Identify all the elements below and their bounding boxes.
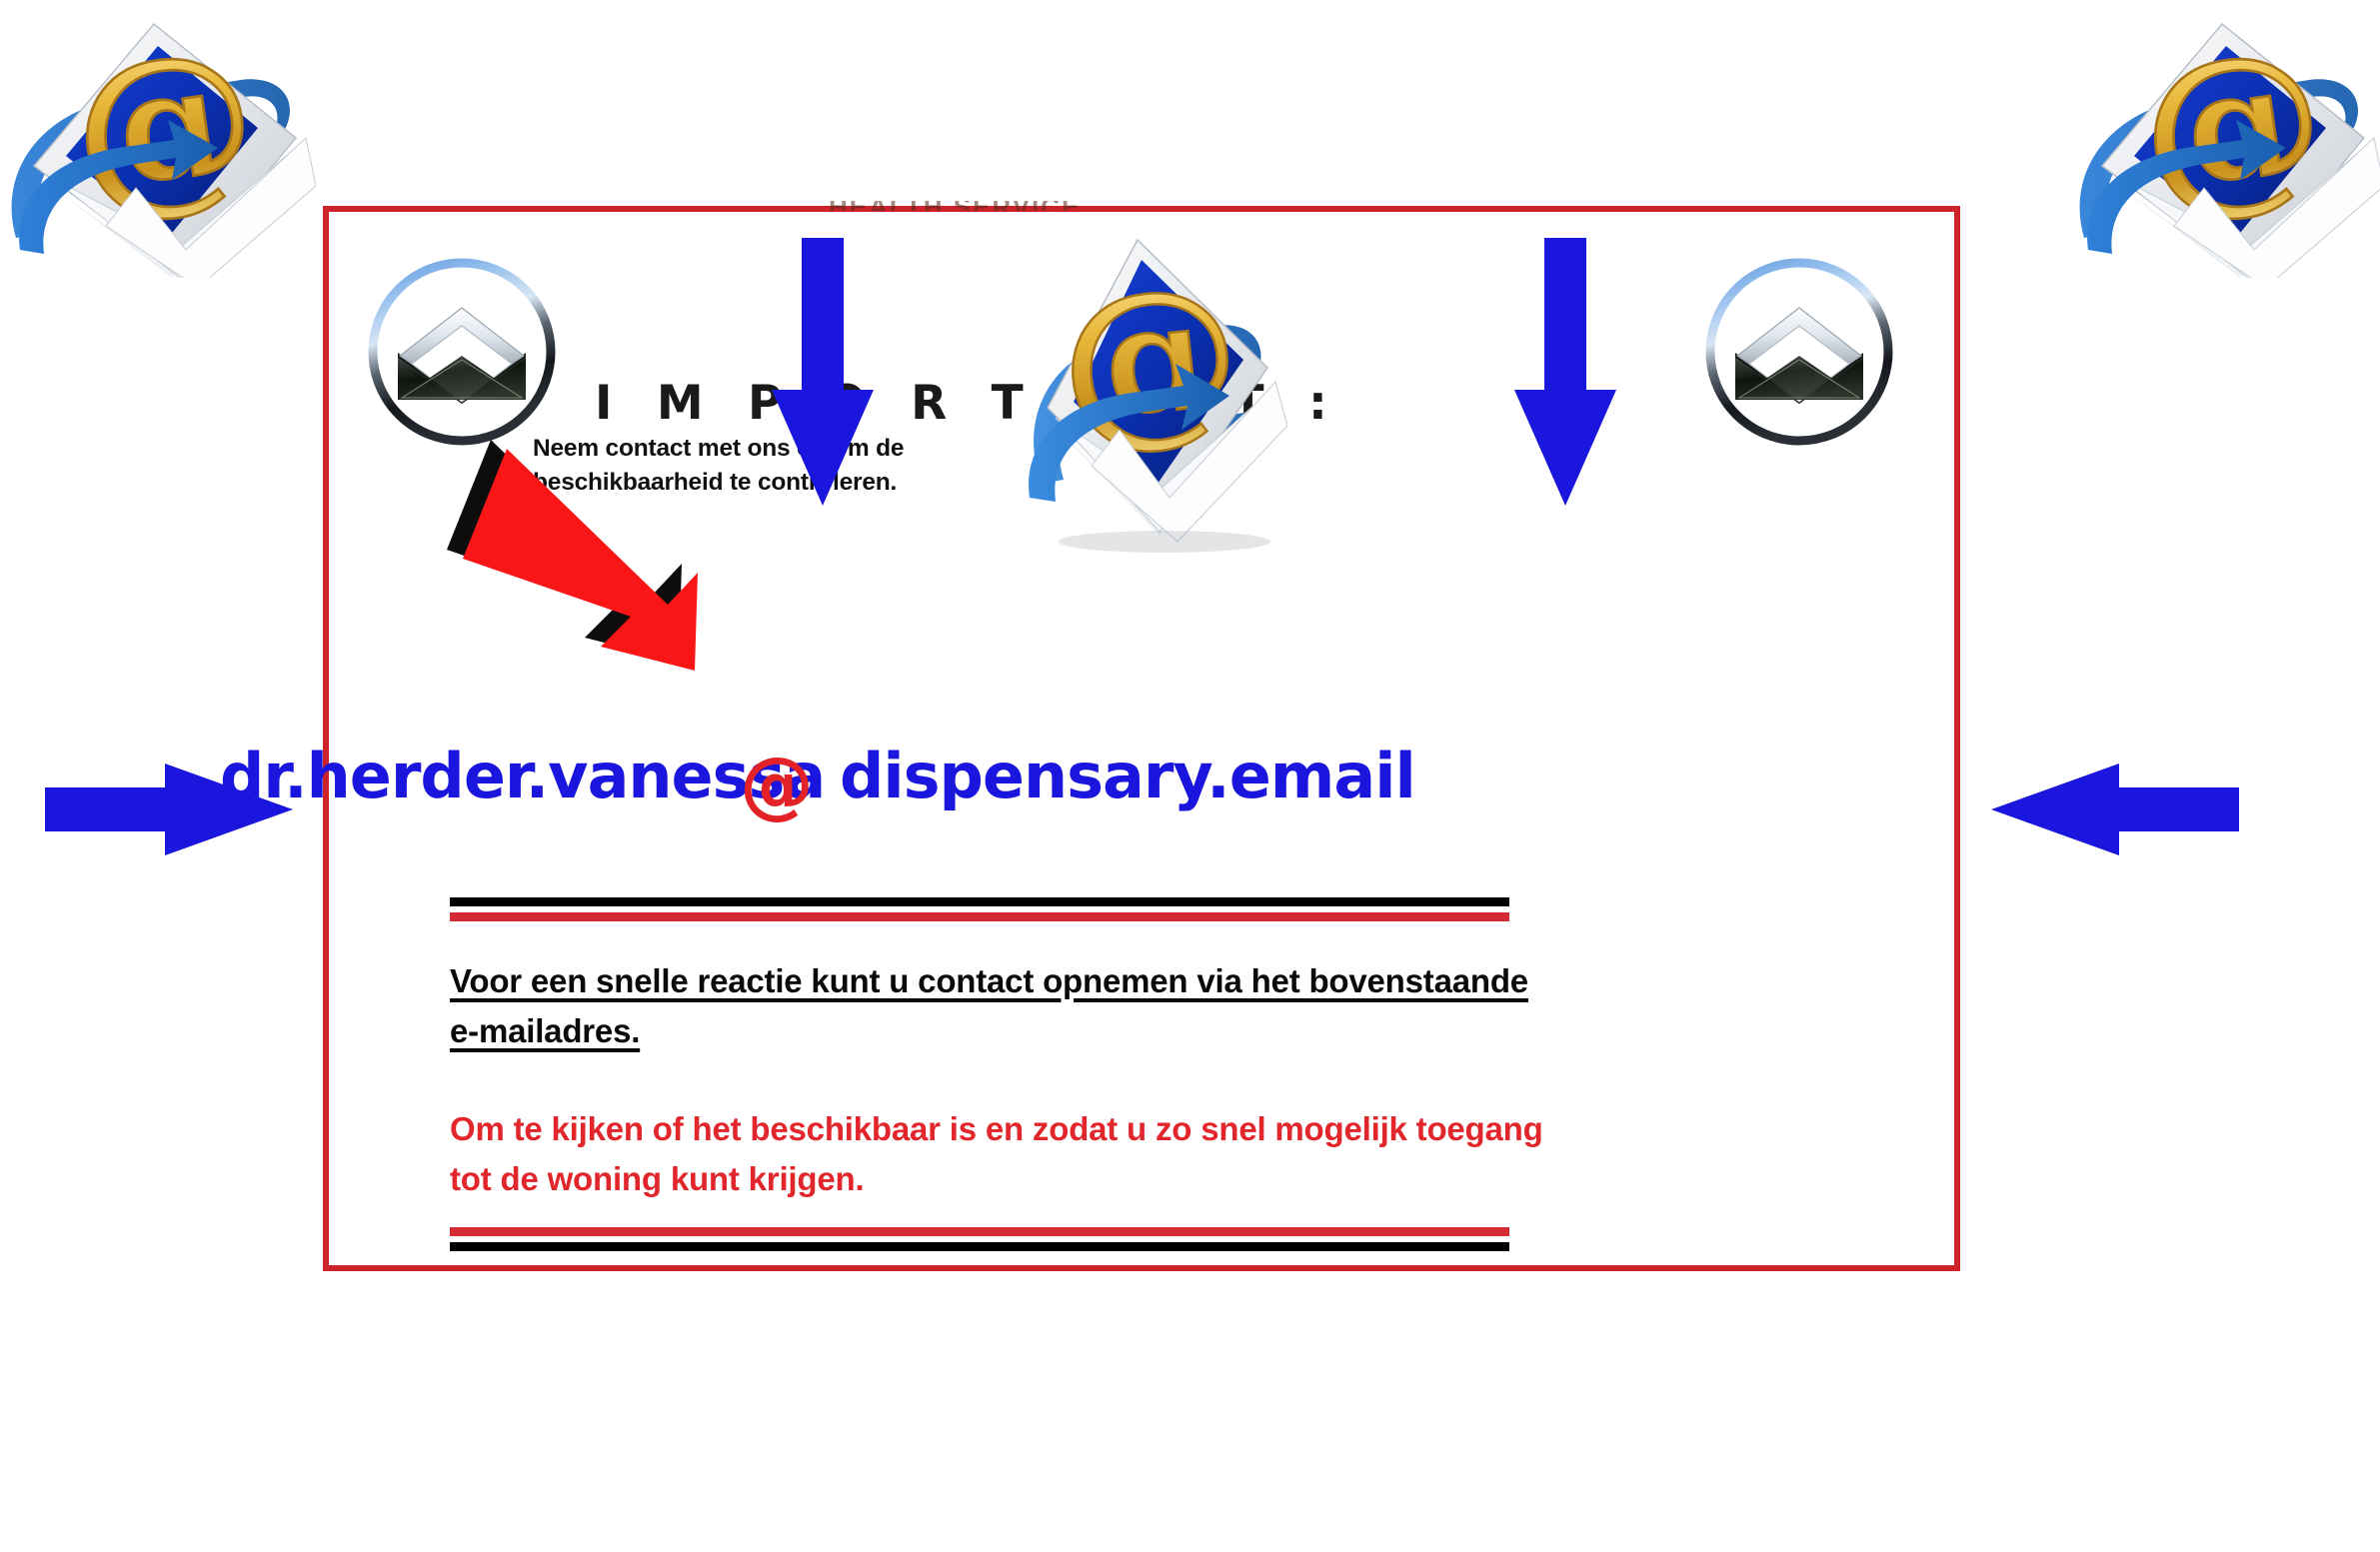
email-address-row: dr.herder.vanessa @ dispensary.email — [330, 740, 1959, 869]
envelope-at-icon: @ — [1000, 198, 1289, 558]
circle-envelope-icon — [1699, 252, 1899, 452]
divider-red-bar — [450, 1227, 1509, 1236]
poster-canvas: @ — [0, 0, 2380, 1552]
divider-bottom — [450, 1227, 1509, 1251]
response-instruction-text: Voor een snelle reactie kunt u contact o… — [450, 956, 1559, 1056]
divider-black-bar — [450, 1242, 1509, 1251]
red-diagonal-arrow-icon — [445, 435, 725, 685]
response-instruction-underlined: Voor een snelle reactie kunt u contact o… — [450, 962, 1528, 1049]
email-domain-part[interactable]: dispensary.email — [840, 740, 1415, 812]
divider-top — [450, 897, 1509, 921]
email-local-part[interactable]: dr.herder.vanessa — [220, 740, 825, 812]
envelope-at-icon: @ — [2054, 0, 2380, 278]
envelope-at-icon: @ — [0, 0, 316, 278]
blue-left-arrow-icon — [1989, 760, 2239, 859]
blue-right-arrow-icon — [45, 760, 295, 859]
email-at-symbol: @ — [740, 742, 814, 827]
divider-red-bar — [450, 912, 1509, 921]
blue-down-arrow-icon — [1510, 238, 1620, 508]
divider-black-bar — [450, 897, 1509, 906]
circle-envelope-icon — [362, 252, 562, 452]
availability-instruction-text: Om te kijken of het beschikbaar is en zo… — [450, 1104, 1559, 1204]
blue-down-arrow-icon — [768, 238, 878, 508]
